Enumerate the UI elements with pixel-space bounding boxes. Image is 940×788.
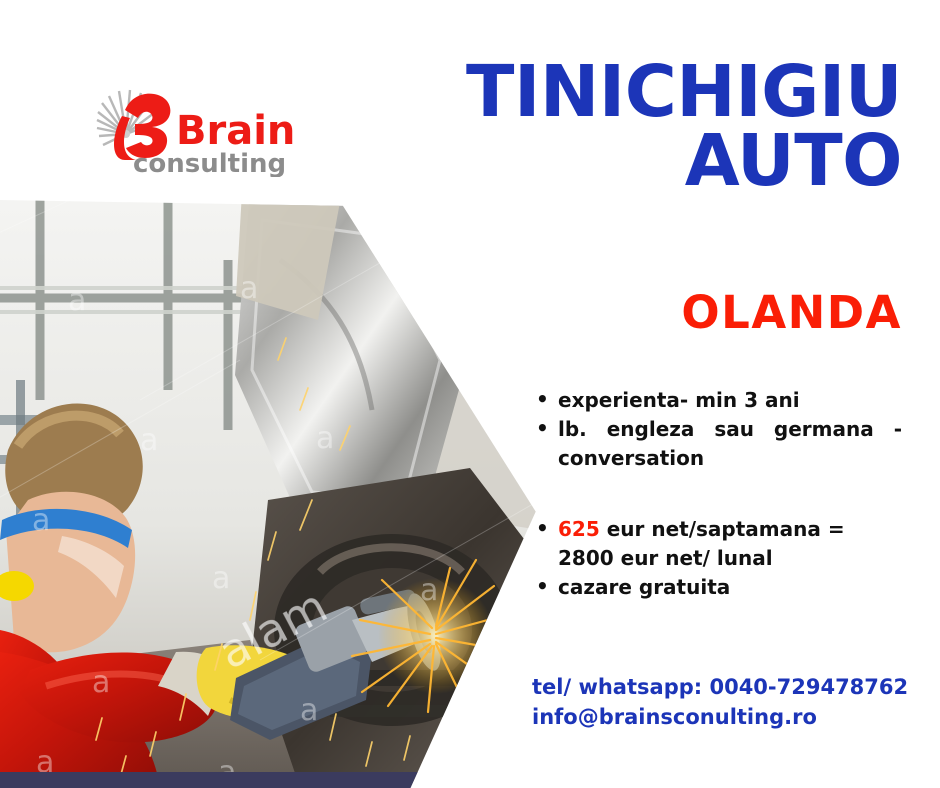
svg-text:a: a <box>240 271 258 306</box>
salary-amount: 625 <box>558 517 600 541</box>
headline-line-1: TINICHIGIU <box>455 58 902 127</box>
brains-consulting-logo: Brains consulting <box>78 72 293 177</box>
svg-text:a: a <box>420 573 438 608</box>
headline-line-2: AUTO <box>455 127 902 196</box>
contact-block: tel/ whatsapp: 0040-729478762 info@brain… <box>532 672 912 733</box>
svg-text:a: a <box>316 421 334 456</box>
svg-text:a: a <box>68 283 86 318</box>
list-item: cazare gratuita <box>530 573 902 601</box>
list-item: 625 eur net/saptamana = 2800 eur net/ lu… <box>530 515 902 572</box>
offers-list: 625 eur net/saptamana = 2800 eur net/ lu… <box>530 515 902 601</box>
salary-detail: eur net/saptamana = 2800 eur net/ lunal <box>558 517 845 569</box>
poster-canvas: Brains consulting <box>0 0 940 788</box>
requirements-list: experienta- min 3 ani lb. engleza sau ge… <box>530 386 902 472</box>
svg-text:a: a <box>300 693 318 728</box>
contact-email[interactable]: info@brainsconulting.ro <box>532 702 912 732</box>
logo-artwork: Brains consulting <box>78 72 293 177</box>
logo-subbrand-text: consulting <box>133 149 286 177</box>
svg-text:a: a <box>92 665 110 700</box>
list-item: lb. engleza sau germana - conversation <box>530 415 902 472</box>
details-list: experienta- min 3 ani lb. engleza sau ge… <box>530 386 902 602</box>
content-column: TINICHIGIU AUTO OLANDA experienta- min 3… <box>455 0 925 788</box>
contact-phone[interactable]: tel/ whatsapp: 0040-729478762 <box>532 672 912 702</box>
svg-text:a: a <box>32 503 50 538</box>
svg-text:a: a <box>140 423 158 458</box>
page-title: TINICHIGIU AUTO <box>455 58 902 196</box>
list-item-label: lb. engleza sau germana - conversation <box>558 417 902 469</box>
list-item: experienta- min 3 ani <box>530 386 902 414</box>
list-group-spacer <box>530 473 902 515</box>
svg-text:a: a <box>212 561 230 596</box>
svg-text:a: a <box>430 301 448 336</box>
subtitle-country: OLANDA <box>455 286 902 339</box>
logo-brand-text: Brains <box>176 108 293 154</box>
